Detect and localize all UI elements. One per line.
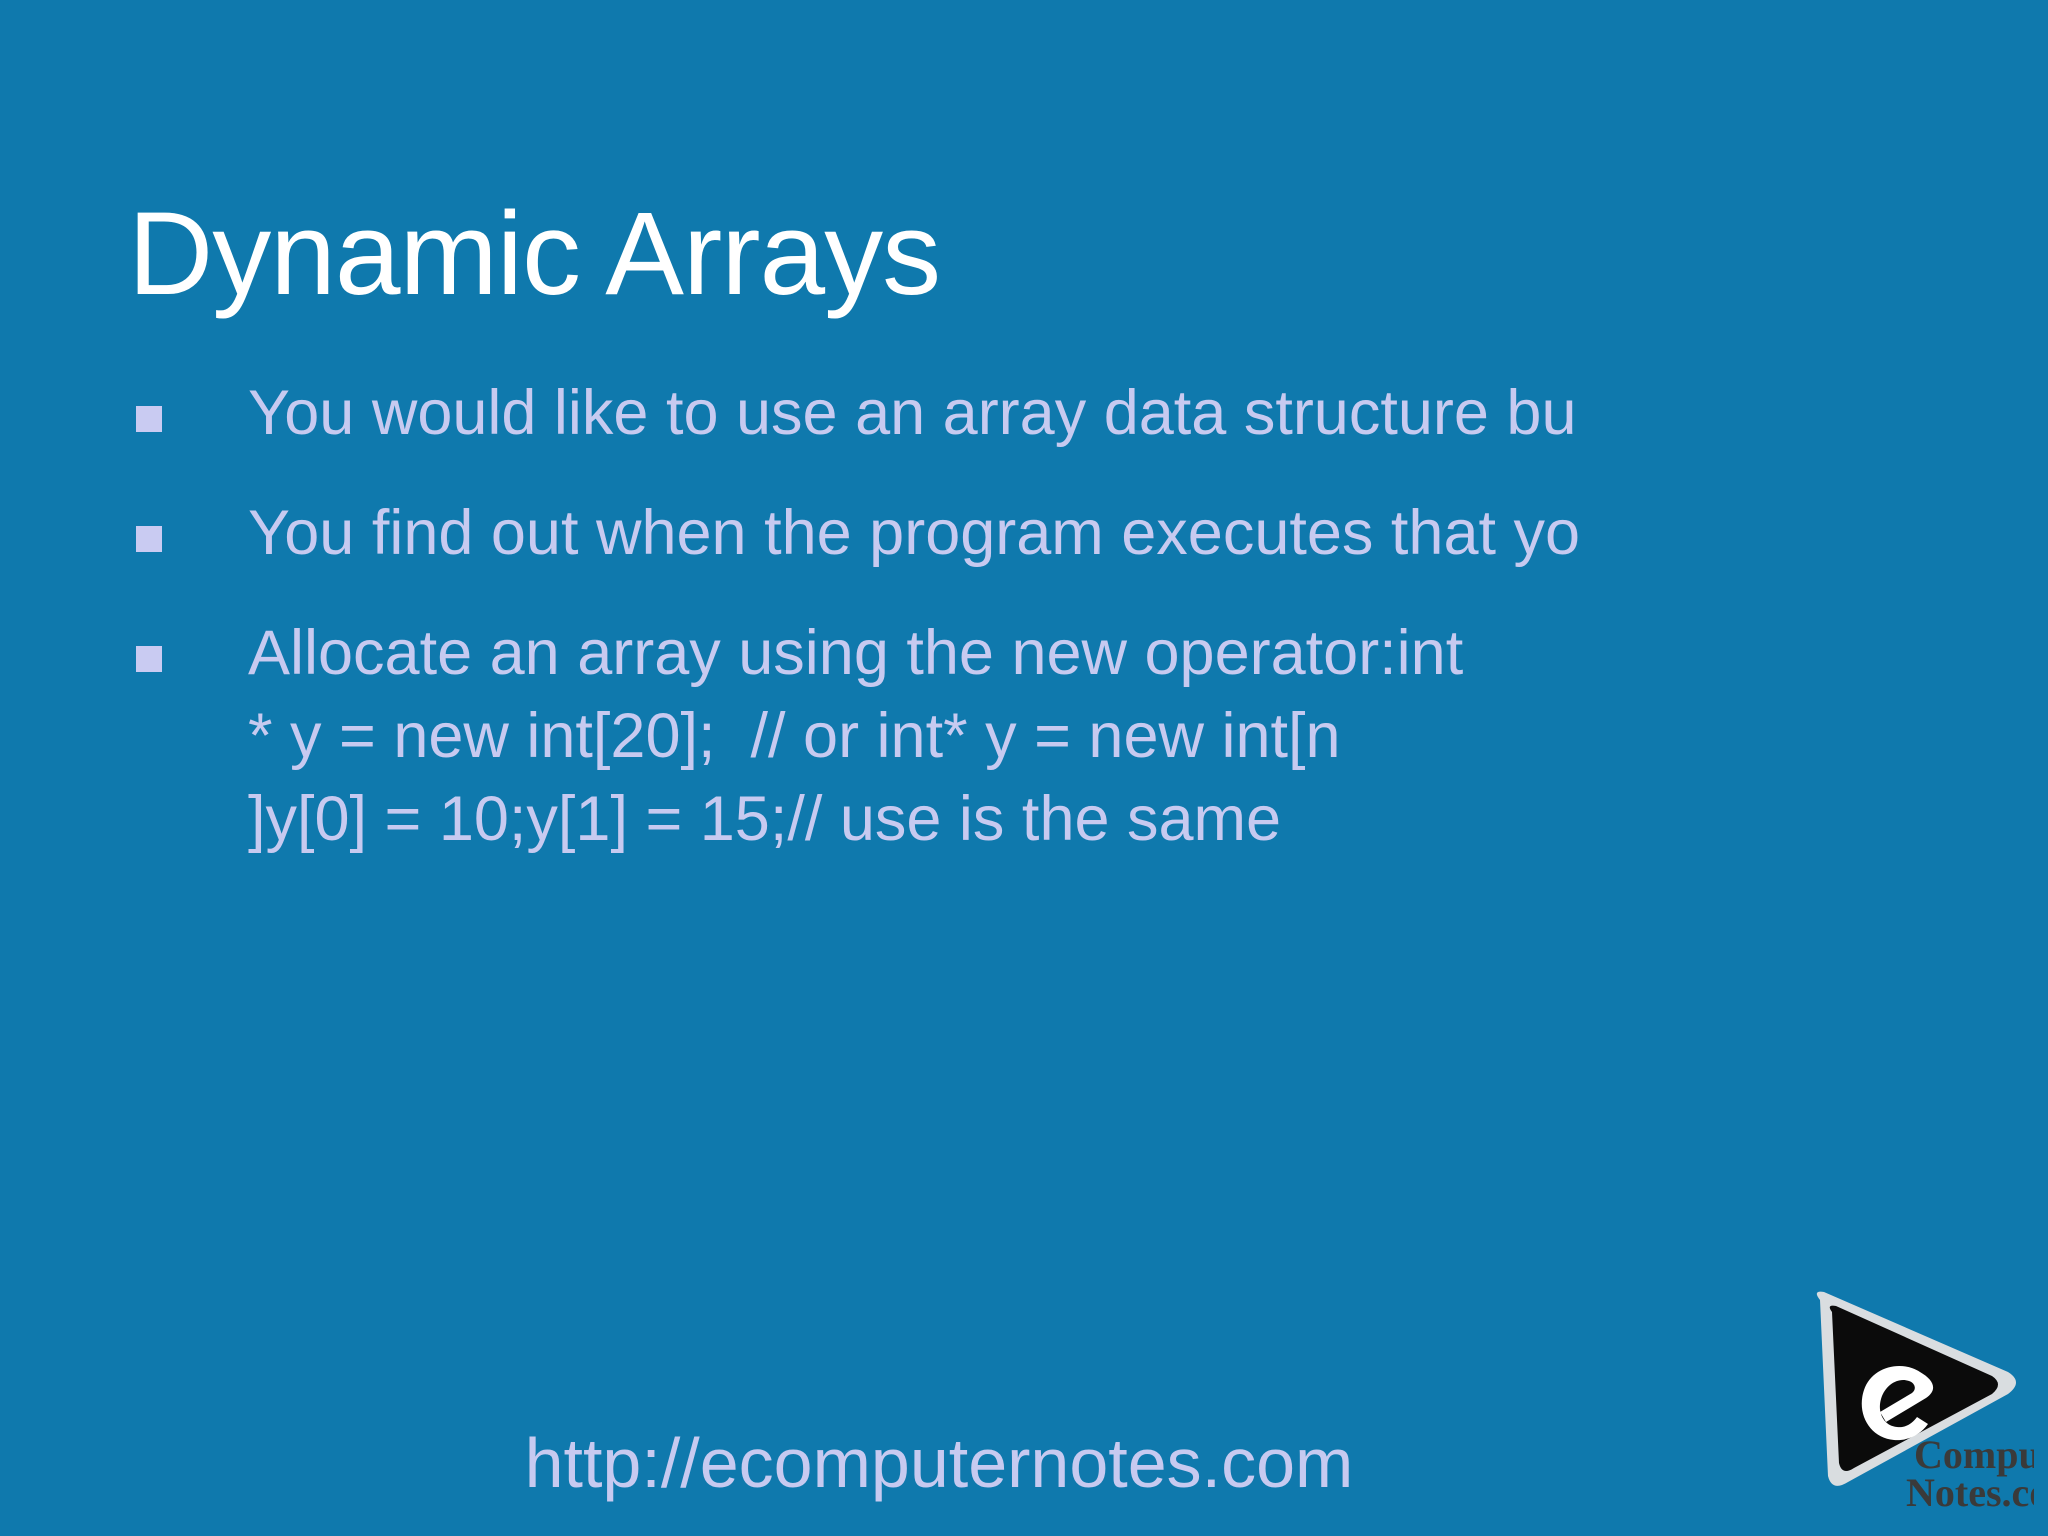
ecomputernotes-logo: Computer Notes.com: [1802, 1286, 2034, 1524]
square-bullet-icon: [136, 526, 162, 552]
list-item: Allocate an array using the new operator…: [128, 612, 2048, 892]
page-title: Dynamic Arrays: [128, 191, 1928, 318]
list-item-text: Allocate an array using the new operator…: [248, 612, 2048, 861]
list-item: You would like to use an array data stru…: [128, 372, 2048, 464]
list-item-text: You would like to use an array data stru…: [248, 372, 2048, 455]
slide: Dynamic Arrays You would like to use an …: [0, 0, 2048, 1536]
square-bullet-icon: [136, 406, 162, 432]
list-item: You find out when the program executes t…: [128, 492, 2048, 584]
logo-line2: Notes.com: [1906, 1470, 2034, 1515]
square-bullet-icon: [136, 646, 162, 672]
list-item-text: You find out when the program executes t…: [248, 492, 2048, 575]
bullet-list: You would like to use an array data stru…: [128, 372, 2048, 920]
footer-url: http://ecomputernotes.com: [0, 1425, 2048, 1502]
